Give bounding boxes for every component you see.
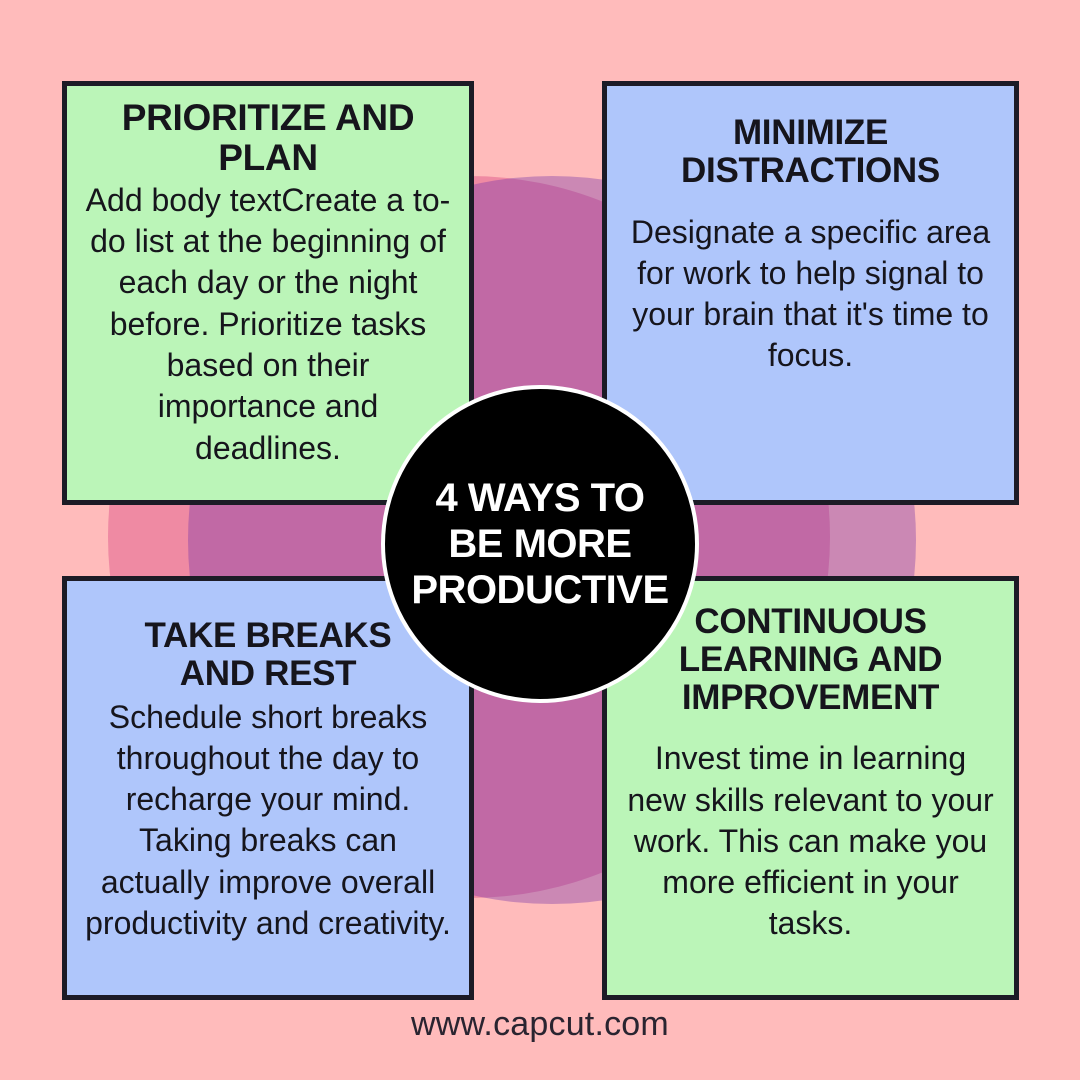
card-prioritize-and-plan: PRIORITIZE AND PLAN Add body textCreate … xyxy=(62,81,474,505)
center-badge-text: 4 WAYS TO BE MORE PRODUCTIVE xyxy=(385,475,695,613)
card-title-continuous-learning-and-improvement: CONTINUOUS LEARNING AND IMPROVEMENT xyxy=(679,603,942,716)
card-body-take-breaks-and-rest: Schedule short breaks throughout the day… xyxy=(85,697,451,945)
card-body-minimize-distractions: Designate a specific area for work to he… xyxy=(625,212,996,377)
card-body-continuous-learning-and-improvement: Invest time in learning new skills relev… xyxy=(625,738,996,944)
infographic-canvas: PRIORITIZE AND PLAN Add body textCreate … xyxy=(0,0,1080,1080)
card-body-prioritize-and-plan: Add body textCreate a to-do list at the … xyxy=(85,180,451,469)
card-title-minimize-distractions: MINIMIZE DISTRACTIONS xyxy=(681,114,940,190)
card-minimize-distractions: MINIMIZE DISTRACTIONS Designate a specif… xyxy=(602,81,1019,505)
center-badge: 4 WAYS TO BE MORE PRODUCTIVE xyxy=(381,385,699,703)
footer-website-url: www.capcut.com xyxy=(0,1005,1080,1044)
card-title-prioritize-and-plan: PRIORITIZE AND PLAN xyxy=(85,98,451,178)
card-title-take-breaks-and-rest: TAKE BREAKS AND REST xyxy=(145,617,392,693)
